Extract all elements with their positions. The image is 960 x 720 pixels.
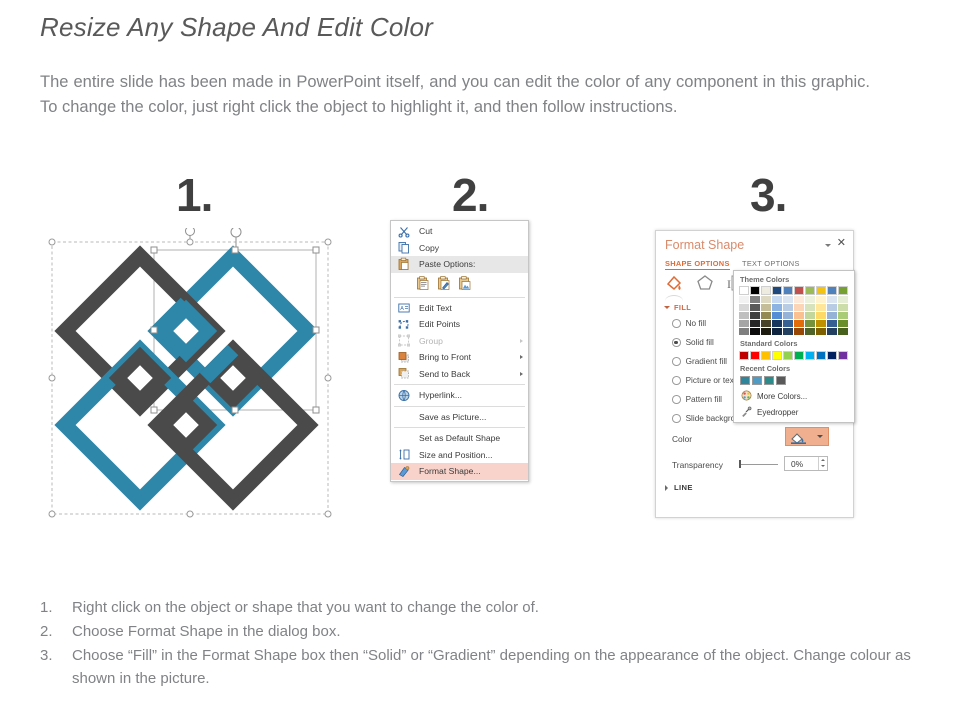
- radio-label: Pattern fill: [686, 395, 722, 404]
- eyedropper-action[interactable]: Eyedropper: [734, 404, 854, 420]
- standard-color-swatch[interactable]: [816, 351, 826, 360]
- step-number-1: 1.: [176, 172, 212, 218]
- instruction-item: 1. Right click on the object or shape th…: [40, 596, 930, 619]
- menu-label: Size and Position...: [419, 450, 493, 460]
- tab-text-options[interactable]: TEXT OPTIONS: [742, 259, 800, 268]
- expand-triangle-icon[interactable]: [665, 485, 668, 491]
- paste-picture-icon[interactable]: [458, 276, 472, 291]
- theme-color-swatch[interactable]: [772, 286, 782, 295]
- edit-text-icon: A: [397, 301, 411, 314]
- theme-color-swatch[interactable]: [827, 304, 837, 311]
- recent-color-swatch[interactable]: [740, 376, 750, 385]
- hyperlink-icon: [397, 389, 411, 402]
- standard-color-swatch[interactable]: [761, 351, 771, 360]
- theme-color-swatch[interactable]: [838, 304, 848, 311]
- diamonds-svg: [40, 228, 340, 530]
- radio-button[interactable]: [672, 357, 681, 366]
- theme-color-swatch[interactable]: [761, 312, 771, 319]
- stepper-down-icon[interactable]: [821, 465, 825, 467]
- paste-keep-formatting-icon[interactable]: [437, 276, 451, 291]
- standard-colors-label: Standard Colors: [734, 335, 854, 350]
- size-position-icon: [397, 448, 411, 461]
- menu-label: Save as Picture...: [419, 412, 486, 422]
- theme-color-swatch[interactable]: [816, 304, 826, 311]
- menu-separator: [394, 406, 525, 407]
- svg-text:I: I: [727, 277, 731, 291]
- step-number-2: 2.: [452, 172, 488, 218]
- theme-color-swatch[interactable]: [783, 296, 793, 303]
- theme-color-swatch[interactable]: [838, 328, 848, 335]
- menu-item-hyperlink[interactable]: Hyperlink...: [391, 387, 528, 404]
- standard-colors-row[interactable]: [734, 350, 854, 362]
- standard-color-swatch[interactable]: [750, 351, 760, 360]
- theme-color-swatch[interactable]: [761, 304, 771, 311]
- theme-color-swatch[interactable]: [772, 304, 782, 311]
- theme-color-swatch[interactable]: [838, 320, 848, 327]
- menu-label: Set as Default Shape: [419, 433, 500, 443]
- paste-icon: [397, 258, 411, 271]
- diamond-small-gray-bottom: [164, 403, 208, 447]
- menu-separator: [394, 427, 525, 428]
- selection-handles-outer: [49, 239, 331, 517]
- recent-color-swatch[interactable]: [776, 376, 786, 385]
- theme-color-swatch[interactable]: [739, 304, 749, 311]
- chevron-right-icon: [520, 372, 523, 376]
- send-to-back-icon: [397, 367, 411, 380]
- theme-color-swatch[interactable]: [750, 312, 760, 319]
- chevron-down-icon[interactable]: [825, 244, 831, 247]
- menu-label: Format Shape...: [419, 466, 481, 476]
- menu-separator: [394, 297, 525, 298]
- diamond-small-gray-left: [118, 356, 162, 400]
- radio-solid-fill[interactable]: Solid fill: [672, 338, 714, 347]
- copy-icon: [397, 241, 411, 254]
- menu-label: Bring to Front: [419, 352, 471, 362]
- active-icon-underline: [665, 295, 683, 301]
- standard-color-swatch[interactable]: [772, 351, 782, 360]
- theme-color-swatch[interactable]: [838, 296, 848, 303]
- theme-color-swatch[interactable]: [761, 328, 771, 335]
- theme-color-swatch[interactable]: [761, 286, 771, 295]
- eyedropper-label: Eyedropper: [757, 408, 798, 417]
- standard-color-swatch[interactable]: [827, 351, 837, 360]
- menu-label: Copy: [419, 243, 439, 253]
- theme-color-swatch[interactable]: [772, 296, 782, 303]
- theme-color-swatch[interactable]: [827, 328, 837, 335]
- shape-graphic-interlocking-diamonds[interactable]: [40, 228, 340, 530]
- theme-color-swatch[interactable]: [761, 296, 771, 303]
- theme-color-swatch[interactable]: [827, 320, 837, 327]
- theme-color-swatch[interactable]: [750, 328, 760, 335]
- color-picker-button[interactable]: [785, 427, 829, 446]
- theme-color-swatch[interactable]: [750, 296, 760, 303]
- theme-color-swatch[interactable]: [816, 328, 826, 335]
- menu-separator: [394, 384, 525, 385]
- scissors-icon: [397, 225, 411, 238]
- theme-color-swatch[interactable]: [816, 296, 826, 303]
- theme-color-swatch[interactable]: [739, 320, 749, 327]
- radio-label: Gradient fill: [686, 357, 727, 366]
- menu-label: Edit Text: [419, 303, 452, 313]
- radio-button[interactable]: [672, 338, 681, 347]
- radio-button[interactable]: [672, 414, 681, 423]
- theme-color-swatch[interactable]: [794, 304, 804, 311]
- menu-item-size-and-position[interactable]: Size and Position...: [391, 447, 528, 464]
- standard-color-swatch[interactable]: [739, 351, 749, 360]
- theme-color-swatch[interactable]: [794, 312, 804, 319]
- theme-color-swatch[interactable]: [750, 304, 760, 311]
- theme-color-swatch[interactable]: [827, 312, 837, 319]
- theme-color-swatch[interactable]: [750, 286, 760, 295]
- radio-label: Solid fill: [686, 338, 714, 347]
- instruction-text: Choose Format Shape in the dialog box.: [72, 620, 930, 643]
- more-colors-action[interactable]: More Colors...: [734, 388, 854, 404]
- theme-color-swatch[interactable]: [816, 286, 826, 295]
- theme-color-swatch[interactable]: [783, 312, 793, 319]
- line-section-label: LINE: [674, 483, 693, 492]
- recent-color-swatch[interactable]: [752, 376, 762, 385]
- theme-color-swatch[interactable]: [739, 296, 749, 303]
- color-label: Color: [672, 434, 692, 444]
- theme-colors-grid[interactable]: [734, 286, 854, 335]
- fill-section-label: FILL: [674, 303, 691, 312]
- paste-keep-text-icon[interactable]: [416, 276, 430, 291]
- theme-color-swatch[interactable]: [739, 286, 749, 295]
- theme-color-swatch[interactable]: [805, 286, 815, 295]
- theme-color-swatch[interactable]: [772, 312, 782, 319]
- theme-color-swatch[interactable]: [783, 320, 793, 327]
- menu-label: Edit Points: [419, 319, 460, 329]
- menu-label: Group: [419, 336, 443, 346]
- theme-color-swatch[interactable]: [805, 296, 815, 303]
- chevron-right-icon: [520, 355, 523, 359]
- palette-icon: [741, 390, 752, 403]
- page-title: Resize Any Shape And Edit Color: [40, 12, 433, 43]
- theme-colors-label: Theme Colors: [734, 274, 854, 286]
- menu-item-save-as-picture[interactable]: Save as Picture...: [391, 409, 528, 426]
- stepper-up-icon[interactable]: [821, 459, 825, 461]
- menu-label: Send to Back: [419, 369, 470, 379]
- edit-points-icon: [397, 318, 411, 331]
- recent-colors-label: Recent Colors: [734, 362, 854, 375]
- theme-color-swatch[interactable]: [750, 320, 760, 327]
- theme-color-swatch[interactable]: [816, 320, 826, 327]
- menu-item-send-to-back[interactable]: Send to Back: [391, 366, 528, 383]
- intro-paragraph: The entire slide has been made in PowerP…: [40, 70, 870, 120]
- transparency-slider-track[interactable]: [740, 464, 778, 465]
- menu-item-copy[interactable]: Copy: [391, 240, 528, 257]
- menu-item-group: Group: [391, 333, 528, 350]
- context-menu[interactable]: Cut Copy Paste Options:: [390, 220, 529, 482]
- instruction-number: 3.: [40, 644, 72, 690]
- group-icon: [397, 334, 411, 347]
- theme-color-swatch[interactable]: [739, 312, 749, 319]
- pentagon-effects-icon[interactable]: [695, 273, 715, 298]
- theme-color-swatch[interactable]: [805, 328, 815, 335]
- theme-color-swatch[interactable]: [838, 312, 848, 319]
- theme-color-swatch[interactable]: [794, 286, 804, 295]
- radio-no-fill[interactable]: No fill: [672, 319, 706, 328]
- theme-color-swatch[interactable]: [816, 312, 826, 319]
- instruction-number: 2.: [40, 620, 72, 643]
- theme-color-swatch[interactable]: [805, 304, 815, 311]
- transparency-slider-thumb[interactable]: [739, 460, 741, 468]
- tab-shape-options[interactable]: SHAPE OPTIONS: [665, 259, 730, 270]
- recent-colors-row[interactable]: [734, 375, 854, 388]
- radio-button[interactable]: [672, 376, 681, 385]
- theme-color-swatch[interactable]: [772, 320, 782, 327]
- radio-pattern-fill[interactable]: Pattern fill: [672, 395, 722, 404]
- bring-to-front-icon: [397, 351, 411, 364]
- menu-label: Cut: [419, 226, 432, 236]
- theme-color-swatch[interactable]: [794, 296, 804, 303]
- theme-color-swatch[interactable]: [783, 286, 793, 295]
- more-colors-label: More Colors...: [757, 392, 807, 401]
- transparency-stepper[interactable]: [818, 457, 828, 470]
- slide-canvas: Resize Any Shape And Edit Color The enti…: [0, 0, 960, 720]
- theme-color-swatch[interactable]: [739, 328, 749, 335]
- menu-label: Paste Options:: [419, 259, 475, 269]
- standard-color-swatch[interactable]: [805, 351, 815, 360]
- svg-text:A: A: [400, 306, 404, 312]
- menu-item-paste-options[interactable]: Paste Options:: [391, 256, 528, 273]
- menu-item-format-shape[interactable]: Format Shape...: [391, 463, 528, 480]
- theme-color-swatch[interactable]: [783, 304, 793, 311]
- menu-item-bring-to-front[interactable]: Bring to Front: [391, 349, 528, 366]
- chevron-down-icon[interactable]: [817, 435, 823, 438]
- fill-color-icon: [790, 431, 807, 443]
- step-number-3: 3.: [750, 172, 786, 218]
- theme-color-swatch[interactable]: [838, 286, 848, 295]
- instructions-list: 1. Right click on the object or shape th…: [40, 596, 930, 691]
- menu-item-cut[interactable]: Cut: [391, 223, 528, 240]
- eyedropper-icon: [741, 406, 752, 419]
- chevron-right-icon: [520, 339, 523, 343]
- radio-button[interactable]: [672, 319, 681, 328]
- close-icon[interactable]: ✕: [837, 238, 846, 249]
- theme-color-swatch[interactable]: [772, 328, 782, 335]
- theme-color-swatch[interactable]: [805, 312, 815, 319]
- menu-item-edit-points[interactable]: Edit Points: [391, 316, 528, 333]
- theme-color-swatch[interactable]: [761, 320, 771, 327]
- menu-label: Hyperlink...: [419, 390, 462, 400]
- collapse-triangle-icon[interactable]: [664, 306, 670, 309]
- theme-color-swatch[interactable]: [794, 328, 804, 335]
- instruction-text: Choose “Fill” in the Format Shape box th…: [72, 644, 930, 690]
- instruction-text: Right click on the object or shape that …: [72, 596, 930, 619]
- theme-color-swatch[interactable]: [783, 328, 793, 335]
- theme-color-swatch[interactable]: [805, 320, 815, 327]
- menu-item-edit-text[interactable]: A Edit Text: [391, 300, 528, 317]
- instruction-number: 1.: [40, 596, 72, 619]
- standard-color-swatch[interactable]: [794, 351, 804, 360]
- theme-color-swatch[interactable]: [827, 286, 837, 295]
- instruction-item: 3. Choose “Fill” in the Format Shape box…: [40, 644, 930, 690]
- standard-color-swatch[interactable]: [783, 351, 793, 360]
- format-shape-icon: [397, 465, 411, 478]
- radio-label: No fill: [686, 319, 706, 328]
- standard-color-swatch[interactable]: [838, 351, 848, 360]
- panel-title: Format Shape: [665, 238, 744, 252]
- paste-options-row[interactable]: [391, 273, 528, 295]
- theme-color-swatch[interactable]: [794, 320, 804, 327]
- radio-button[interactable]: [672, 395, 681, 404]
- instruction-item: 2. Choose Format Shape in the dialog box…: [40, 620, 930, 643]
- theme-color-swatch[interactable]: [827, 296, 837, 303]
- color-picker-flyout[interactable]: Theme Colors Standard Colors Recent Colo…: [733, 270, 855, 423]
- radio-gradient-fill[interactable]: Gradient fill: [672, 357, 727, 366]
- menu-item-set-as-default-shape[interactable]: Set as Default Shape: [391, 430, 528, 447]
- recent-color-swatch[interactable]: [764, 376, 774, 385]
- transparency-label: Transparency: [672, 460, 723, 470]
